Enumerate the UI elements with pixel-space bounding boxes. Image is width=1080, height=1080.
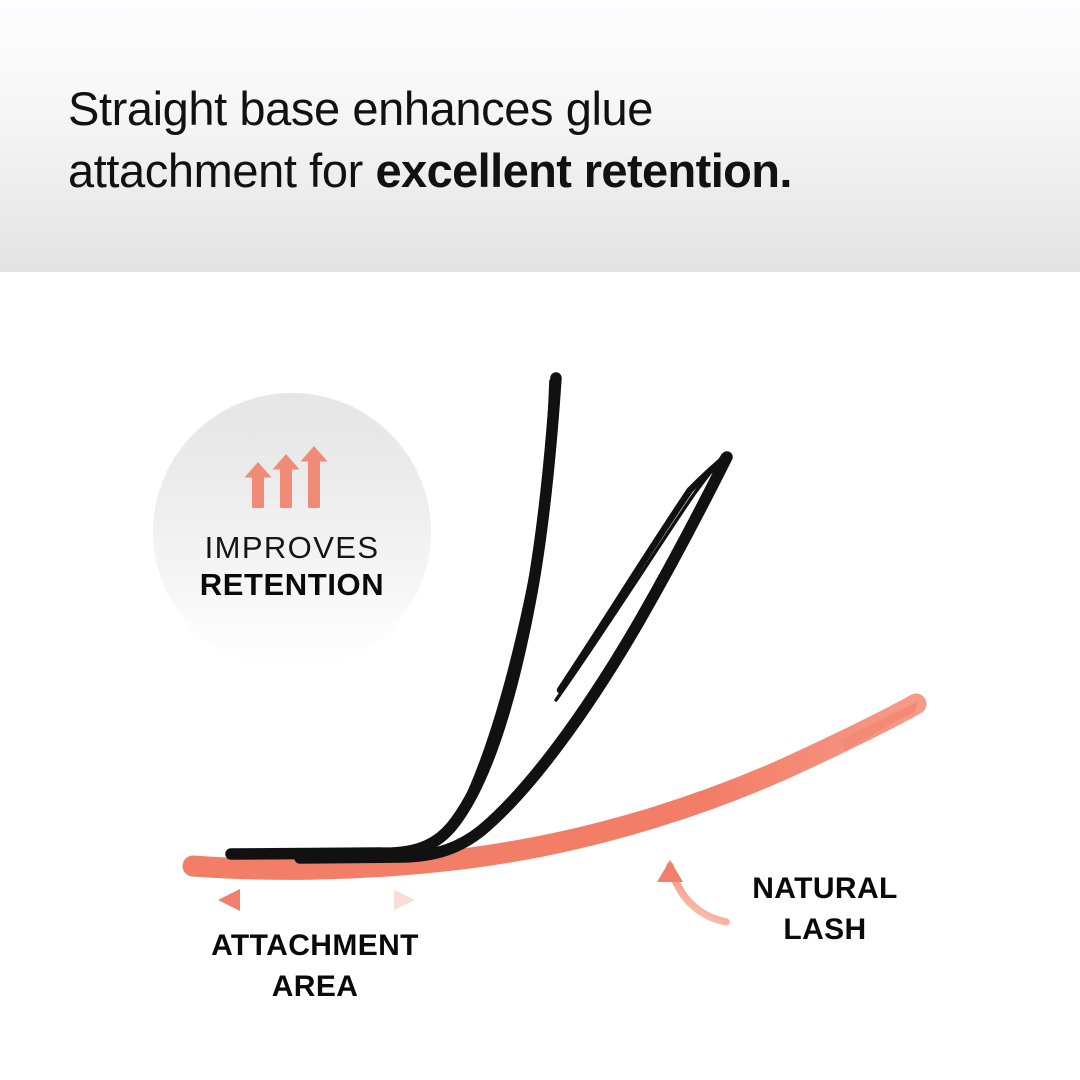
headline-line-2-normal: attachment for xyxy=(68,144,376,197)
natural-lash-stroke xyxy=(193,702,918,869)
badge-text-block: IMPROVES RETENTION xyxy=(153,530,431,603)
natural-lash-label: NATURAL LASH xyxy=(700,868,950,950)
page-title: Straight base enhances glue attachment f… xyxy=(68,78,968,202)
attachment-span-arrow xyxy=(218,889,415,911)
headline-line-2-strong: excellent retention. xyxy=(376,144,792,197)
infographic-canvas: Straight base enhances glue attachment f… xyxy=(0,0,1080,1080)
natural-label-line-1: NATURAL xyxy=(700,868,950,909)
headline-line-1: Straight base enhances glue xyxy=(68,82,653,135)
attachment-area-label: ATTACHMENT AREA xyxy=(155,925,475,1007)
attachment-label-line-1: ATTACHMENT xyxy=(155,925,475,966)
badge-label-improves: IMPROVES xyxy=(153,530,431,566)
three-up-arrows-icon xyxy=(240,446,340,508)
attachment-label-line-2: AREA xyxy=(155,966,475,1007)
natural-label-line-2: LASH xyxy=(700,909,950,950)
badge-label-retention: RETENTION xyxy=(153,566,431,603)
